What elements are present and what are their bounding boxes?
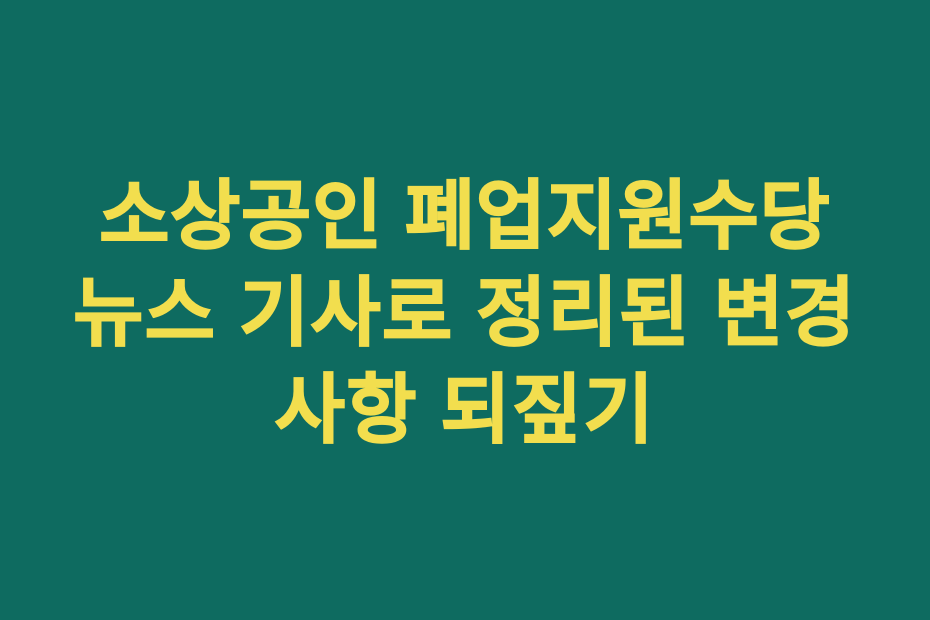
title-line-1: 소상공인 폐업지원수당	[99, 168, 830, 265]
title-line-3: 사항 되짚기	[275, 362, 655, 459]
title-card-canvas: 소상공인 폐업지원수당 뉴스 기사로 정리된 변경 사항 되짚기	[0, 0, 930, 620]
title-line-2: 뉴스 기사로 정리된 변경	[73, 265, 856, 362]
title-block: 소상공인 폐업지원수당 뉴스 기사로 정리된 변경 사항 되짚기	[0, 0, 930, 620]
